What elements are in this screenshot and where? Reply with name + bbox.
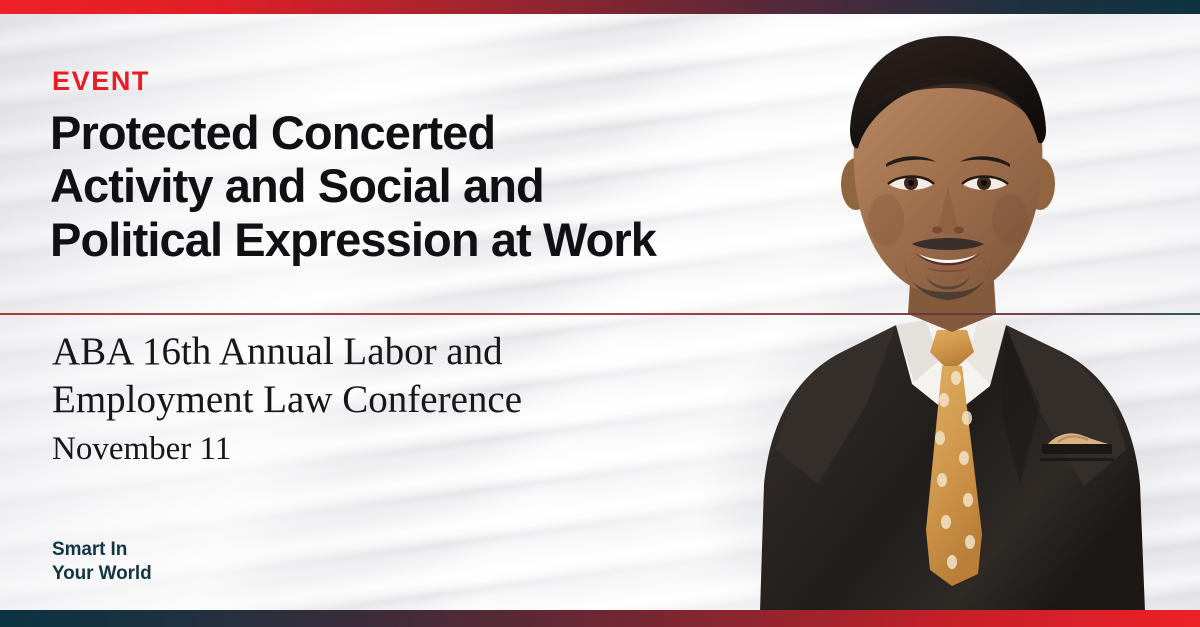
eyebrow-label: EVENT <box>52 68 150 95</box>
text-content-block: EVENT Protected Concerted Activity and S… <box>52 0 872 627</box>
brand-tagline: Smart In Your World <box>52 538 152 587</box>
tagline-line-1: Smart In <box>52 538 152 562</box>
event-date: November 11 <box>52 430 231 470</box>
event-subtitle: ABA 16th Annual Labor and Employment Law… <box>52 328 752 423</box>
subtitle-line-1: ABA 16th Annual Labor and <box>52 328 752 376</box>
headline-line-2: Activity and Social and <box>50 159 850 212</box>
event-promo-banner: EVENT Protected Concerted Activity and S… <box>0 0 1200 627</box>
headline-line-3: Political Expression at Work <box>50 213 850 266</box>
headline-line-1: Protected Concerted <box>50 106 850 159</box>
tagline-line-2: Your World <box>52 562 152 586</box>
page-title: Protected Concerted Activity and Social … <box>50 106 850 266</box>
subtitle-line-2: Employment Law Conference <box>52 376 752 424</box>
